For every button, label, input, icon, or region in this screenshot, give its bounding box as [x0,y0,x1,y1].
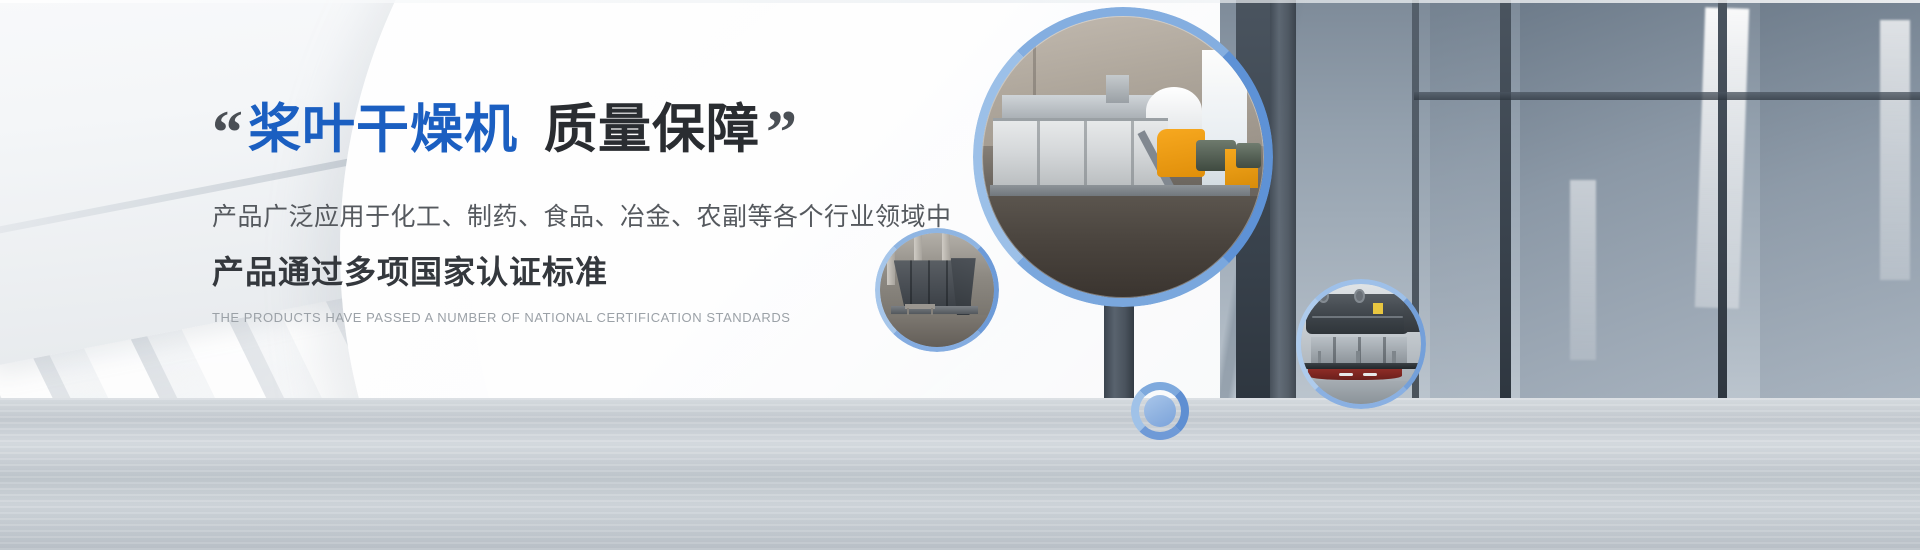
hero-banner: “ 桨叶干燥机 质量保障 ” 产品广泛应用于化工、制药、食品、冶金、农副等各个行… [0,0,1920,550]
quote-open-icon: “ [212,102,244,164]
banner-subtitle-english: THE PRODUCTS HAVE PASSED A NUMBER OF NAT… [212,310,972,325]
floor-edge-line [0,0,1920,3]
blue-ring-inner-dot [1144,395,1176,427]
secondary-product-photo-circle[interactable] [875,228,999,352]
banner-subtitle-industries: 产品广泛应用于化工、制药、食品、冶金、农副等各个行业领域中 [212,197,972,233]
banner-copy: “ 桨叶干燥机 质量保障 ” 产品广泛应用于化工、制药、食品、冶金、农副等各个行… [212,96,972,325]
floor-reflection [0,398,1920,550]
main-circle-ring [973,7,1273,307]
window-light-streak-3 [1570,180,1596,360]
mullion-horizontal [1414,92,1920,100]
headline-highlight: 桨叶干燥机 [248,101,518,158]
glass-panel-3 [1430,0,1500,430]
glass-panel-1 [1520,0,1720,430]
banner-subtitle-certification: 产品通过多项国家认证标准 [212,247,972,293]
quote-close-icon: ” [766,102,798,164]
mullion-2 [1718,0,1727,430]
main-product-photo-circle[interactable] [973,7,1273,307]
mullion-1 [1500,0,1511,430]
tertiary-product-photo-circle[interactable] [1296,279,1426,409]
secondary-circle-ring [875,228,999,352]
window-light-streak-2 [1880,20,1910,280]
banner-headline: “ 桨叶干燥机 质量保障 ” [212,96,972,158]
tertiary-circle-ring [1296,279,1426,409]
structural-column-2 [1270,0,1296,450]
blue-ring-decoration-icon [1131,382,1189,440]
headline-rest: 质量保障 [544,101,760,158]
